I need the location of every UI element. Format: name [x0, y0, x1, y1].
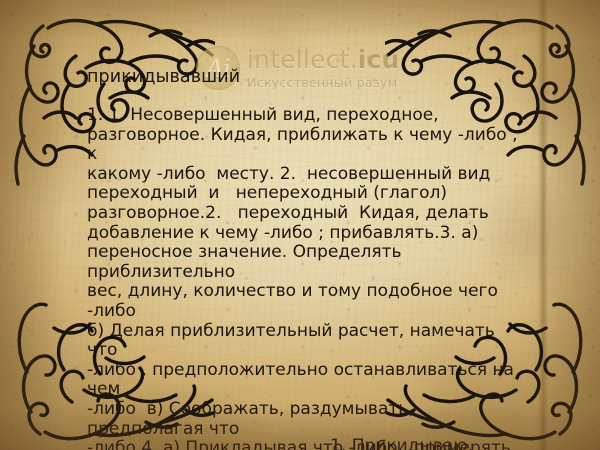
parchment-vignette: [0, 0, 600, 450]
parchment-slide: Ai intellect.icu Искусственный разум при…: [0, 0, 600, 450]
